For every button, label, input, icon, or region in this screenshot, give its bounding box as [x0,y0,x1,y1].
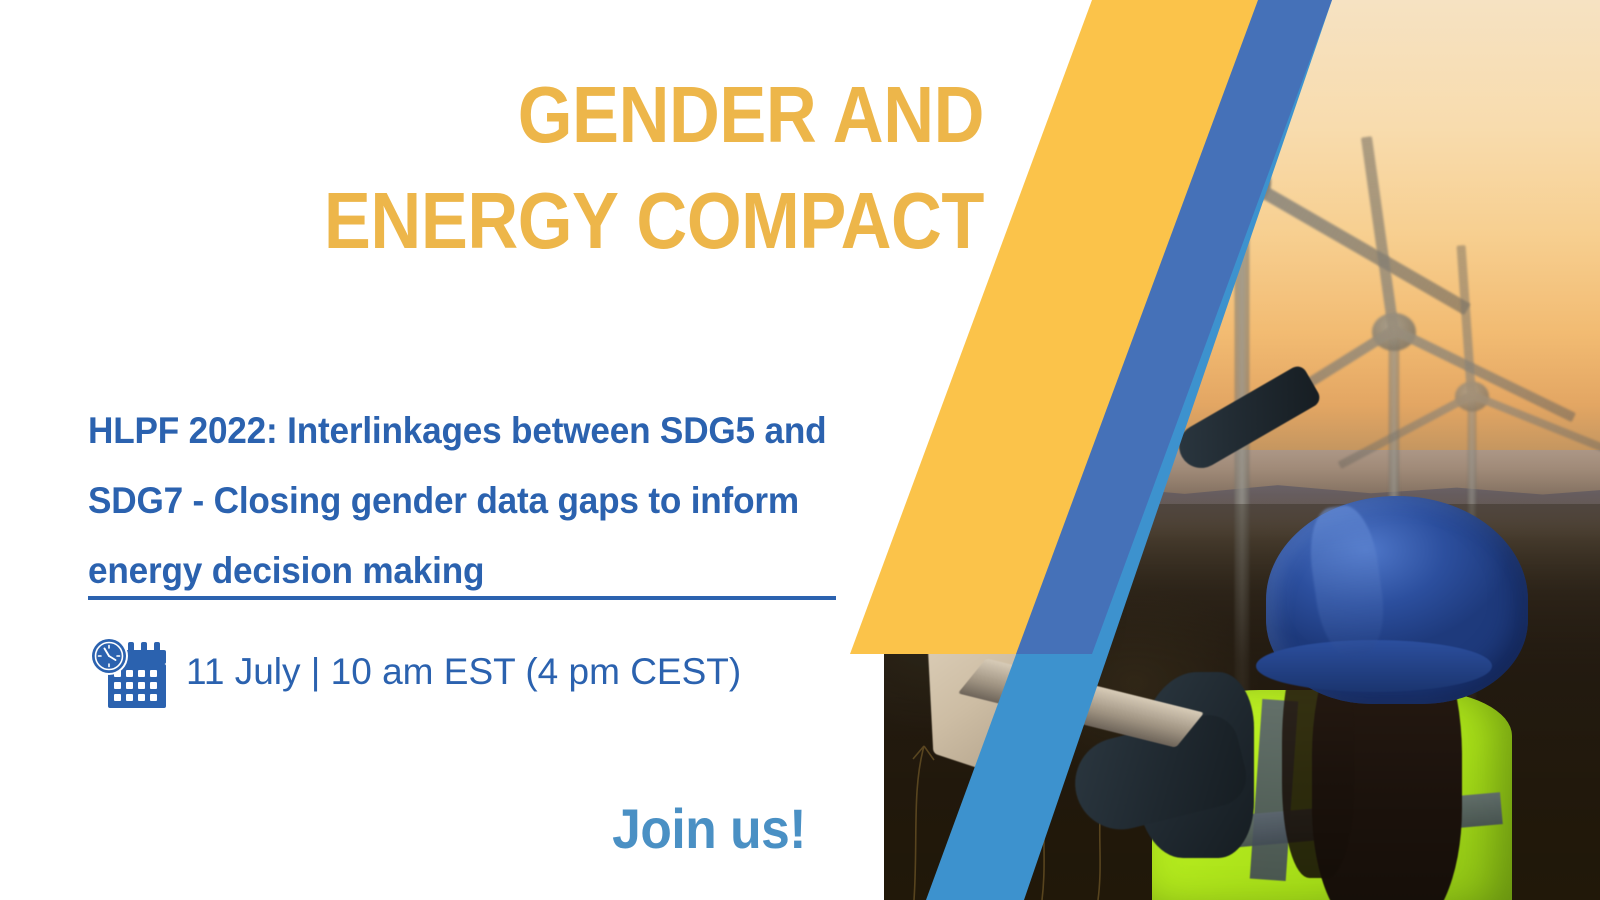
calendar-clock-icon [86,634,170,710]
hard-hat-brim [1256,640,1492,692]
event-subtitle: HLPF 2022: Interlinkages between SDG5 an… [88,396,888,606]
event-datetime-row: 11 July | 10 am EST (4 pm CEST) [86,634,741,710]
promotional-banner: GENDER AND ENERGY COMPACT HLPF 2022: Int… [0,0,1600,900]
banner-title: GENDER AND ENERGY COMPACT [0,62,984,275]
title-divider-rule [88,596,836,600]
title-line-1: GENDER AND [118,62,984,168]
subtitle-line-2: SDG7 - Closing gender data gaps to infor… [88,466,848,536]
subtitle-line-1: HLPF 2022: Interlinkages between SDG5 an… [88,396,848,466]
event-datetime-text: 11 July | 10 am EST (4 pm CEST) [186,651,741,693]
title-line-2: ENERGY COMPACT [118,168,984,274]
join-us-cta: Join us! [64,794,806,864]
